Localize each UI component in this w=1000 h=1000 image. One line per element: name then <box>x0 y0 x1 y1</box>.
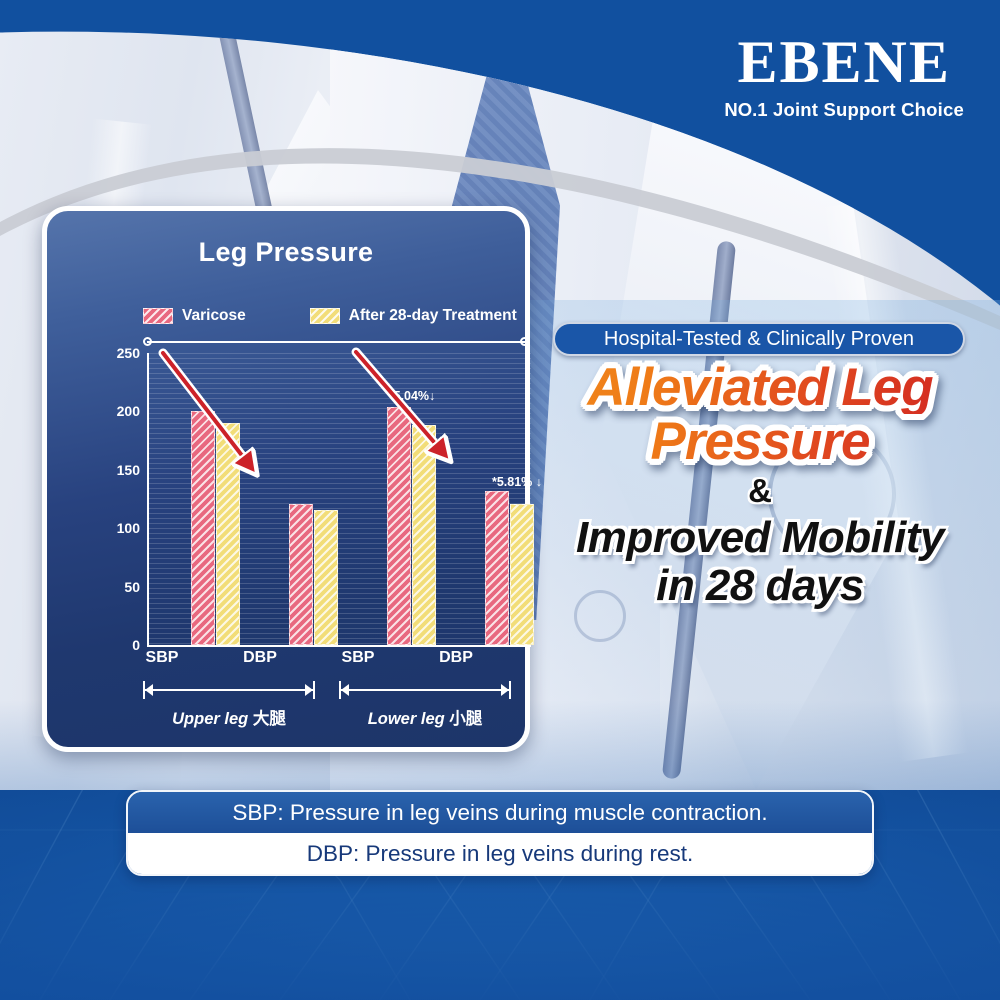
chart-title: Leg Pressure <box>47 237 525 268</box>
x-label-lower-dbp: DBP <box>439 649 473 667</box>
poster-canvas: EBENE NO.1 Joint Support Choice Leg Pres… <box>0 0 1000 1000</box>
definition-dbp-text: DBP: Pressure in leg veins during rest. <box>307 841 693 867</box>
badge-label: Hospital-Tested & Clinically Proven <box>604 328 914 351</box>
group-label-lower-en: Lower leg <box>368 710 445 728</box>
rule-line <box>147 341 525 343</box>
definition-row-sbp: SBP: Pressure in leg veins during muscle… <box>128 792 872 833</box>
definition-sbp-text: SBP: Pressure in leg veins during muscle… <box>232 800 767 826</box>
x-label-upper-dbp: DBP <box>243 649 277 667</box>
group-label-lower-leg: Lower leg 小腿 <box>339 705 511 729</box>
x-label-lower-sbp: SBP <box>342 649 375 667</box>
y-tick-100: 100 <box>117 520 149 536</box>
bar-series-container: *5.04%↓ *5.81% ↓ <box>149 353 531 645</box>
x-axis-labels: SBP DBP SBP DBP <box>207 649 531 671</box>
rule-endpoint-right <box>520 337 529 346</box>
group-label-lower-zh: 小腿 <box>449 710 482 728</box>
headline-line-3: Improved Mobility <box>530 515 990 561</box>
brand-name: EBENE <box>724 32 964 92</box>
y-tick-50: 50 <box>124 579 149 595</box>
legend-item-varicose: Varicose <box>143 307 246 325</box>
headline-ampersand: & <box>530 474 990 507</box>
chart-plot-area: 250 200 150 100 50 0 <box>107 347 531 671</box>
group-lower-leg: Lower leg 小腿 <box>339 681 511 745</box>
legend-item-treatment: After 28-day Treatment <box>310 307 517 325</box>
chart-top-rule <box>143 337 529 347</box>
bar-treatment-upper-sbp <box>216 423 240 645</box>
chart-legend: Varicose After 28-day Treatment <box>143 307 517 325</box>
chart-card: Leg Pressure Varicose After 28-day Treat… <box>42 206 530 752</box>
brand-tagline-no1: NO.1 <box>724 99 767 120</box>
y-tick-250: 250 <box>117 345 149 361</box>
group-label-upper-leg: Upper leg 大腿 <box>143 705 315 729</box>
status-badge: Hospital-Tested & Clinically Proven <box>553 322 965 356</box>
headline-line-1: Alleviated Leg <box>530 362 990 414</box>
bar-treatment-lower-sbp <box>412 425 436 645</box>
annotation-pct-lower-sbp: *5.04%↓ <box>389 389 436 403</box>
plot-canvas: 250 200 150 100 50 0 <box>147 353 531 647</box>
y-tick-150: 150 <box>117 462 149 478</box>
group-label-upper-zh: 大腿 <box>253 710 286 728</box>
brand-tagline: NO.1 Joint Support Choice <box>724 99 964 121</box>
brand-tagline-rest: Joint Support Choice <box>768 99 964 120</box>
x-label-upper-sbp: SBP <box>146 649 179 667</box>
definition-row-dbp: DBP: Pressure in leg veins during rest. <box>128 833 872 874</box>
bar-varicose-upper-dbp <box>289 504 313 645</box>
y-tick-200: 200 <box>117 403 149 419</box>
group-label-upper-en: Upper leg <box>172 710 248 728</box>
headline-line-2: Pressure <box>530 416 990 468</box>
bar-varicose-lower-dbp <box>485 491 509 645</box>
legend-label-treatment: After 28-day Treatment <box>349 307 517 325</box>
group-brackets: Upper leg 大腿 Lower leg 小腿 <box>107 681 531 745</box>
legend-swatch-treatment <box>310 308 340 324</box>
legend-swatch-varicose <box>143 308 173 324</box>
bar-varicose-lower-sbp <box>387 407 411 645</box>
group-upper-leg: Upper leg 大腿 <box>143 681 315 745</box>
brand-logo: EBENE NO.1 Joint Support Choice <box>724 32 964 121</box>
legend-label-varicose: Varicose <box>182 307 246 325</box>
headline-block: Alleviated Leg Pressure & Improved Mobil… <box>530 362 990 608</box>
definitions-box: SBP: Pressure in leg veins during muscle… <box>126 790 874 876</box>
bar-treatment-upper-dbp <box>314 510 338 645</box>
headline-line-4: in 28 days <box>530 563 990 609</box>
bar-varicose-upper-sbp <box>191 411 215 645</box>
